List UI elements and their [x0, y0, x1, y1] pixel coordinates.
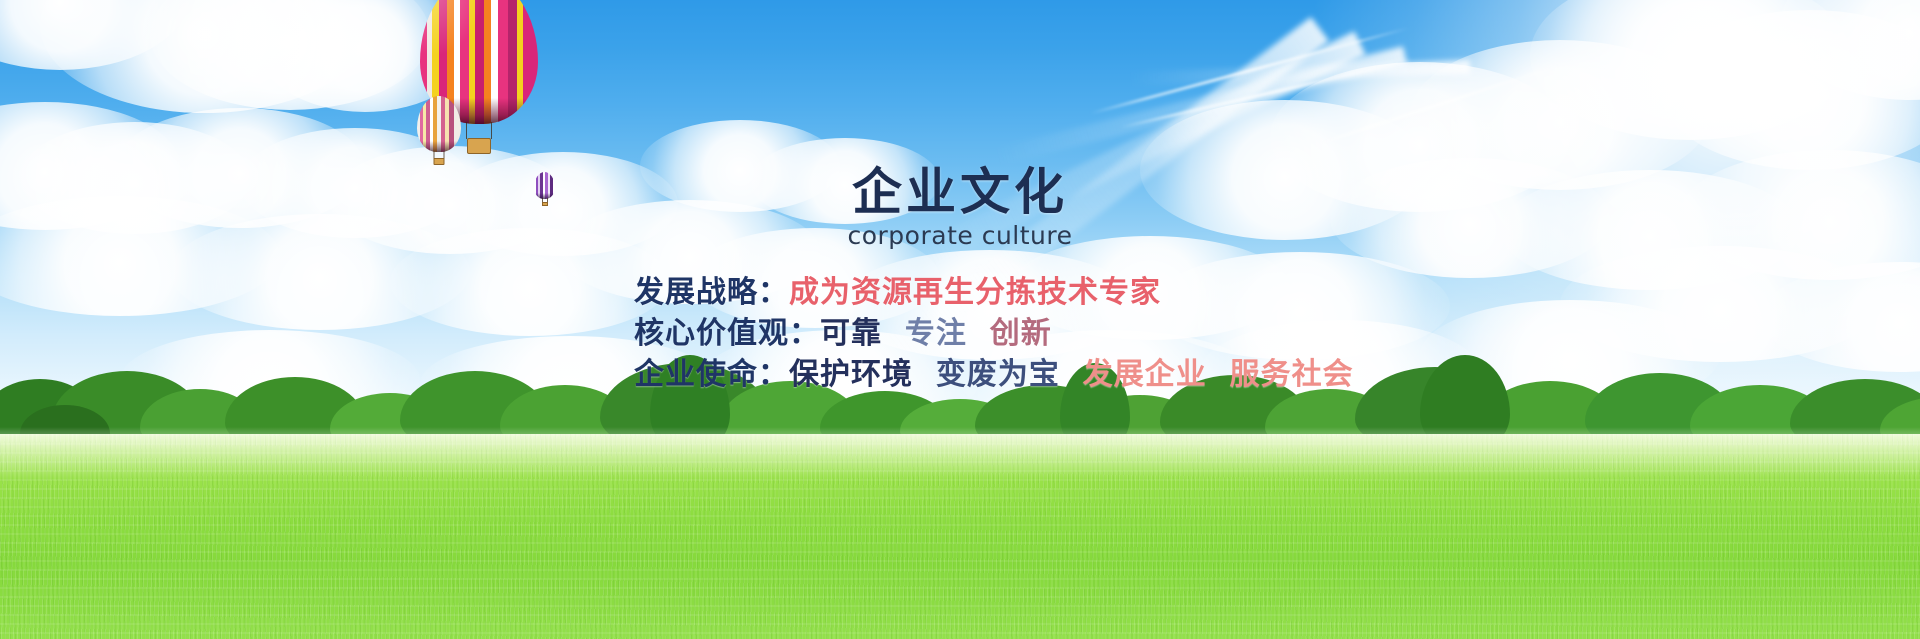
statement-segment: 企业使命： — [634, 357, 789, 392]
statement-segment — [1060, 357, 1083, 392]
grass-field — [0, 434, 1920, 639]
statement-segment: 发展战略： — [634, 275, 789, 310]
corporate-culture-banner: 企业文化 corporate culture 发展战略：成为资源再生分拣技术专家… — [0, 0, 1920, 639]
statement-segment: 变废为宝 — [936, 357, 1060, 392]
landscape — [0, 379, 1920, 639]
grass-texture — [0, 434, 1920, 639]
title-group: 企业文化 corporate culture — [0, 166, 1920, 250]
medium-balloon — [417, 96, 461, 152]
statement-segment: 专注 — [905, 316, 967, 351]
statement-segment — [882, 316, 905, 351]
grass-haze — [0, 434, 1920, 480]
statement-segment — [1207, 357, 1230, 392]
statement-segment: 发展企业 — [1083, 357, 1207, 392]
page-subtitle: corporate culture — [0, 221, 1920, 250]
statement-core-values: 核心价值观：可靠 专注 创新 — [634, 313, 1354, 354]
large-balloon-ropes — [466, 122, 492, 139]
medium-balloon-basket — [434, 158, 445, 165]
statement-segment: 保护环境 — [789, 357, 913, 392]
statement-segment: 成为资源再生分拣技术专家 — [789, 275, 1161, 310]
statement-segment: 可靠 — [820, 316, 882, 351]
statement-segment: 创新 — [990, 316, 1052, 351]
culture-statements: 发展战略：成为资源再生分拣技术专家核心价值观：可靠 专注 创新企业使命：保护环境… — [634, 272, 1354, 395]
statement-development-strategy: 发展战略：成为资源再生分拣技术专家 — [634, 272, 1354, 313]
statement-segment — [967, 316, 990, 351]
large-balloon-basket — [467, 138, 491, 154]
statement-segment — [913, 357, 936, 392]
page-title: 企业文化 — [0, 166, 1920, 219]
statement-corporate-mission: 企业使命：保护环境 变废为宝 发展企业 服务社会 — [634, 354, 1354, 395]
statement-segment: 核心价值观： — [634, 316, 820, 351]
statement-segment: 服务社会 — [1230, 357, 1354, 392]
medium-balloon-envelope — [417, 96, 461, 152]
